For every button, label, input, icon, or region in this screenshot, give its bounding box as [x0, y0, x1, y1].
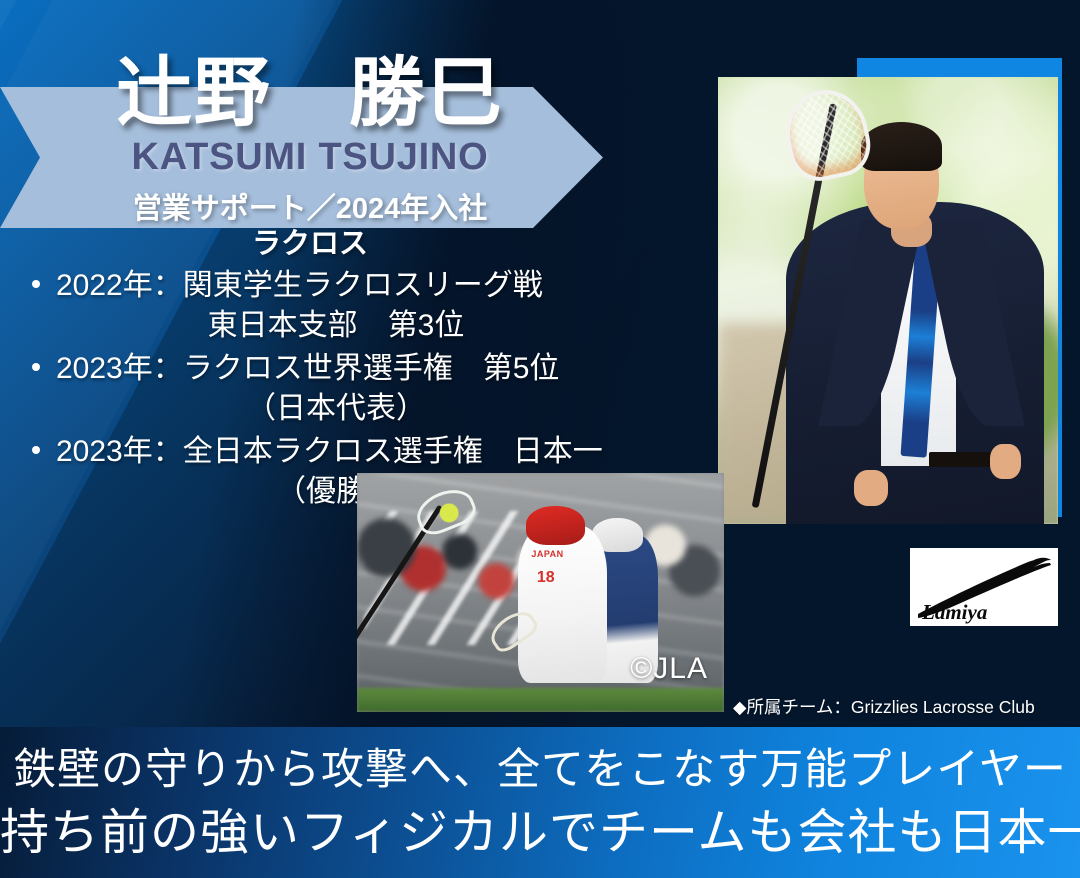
photo-credit-watermark: ©JLA — [630, 652, 708, 686]
list-item: 2023年：ラクロス世界選手権 第5位 （日本代表） — [10, 349, 660, 428]
bullet-icon — [32, 280, 40, 288]
achievement-line-primary: 2023年：ラクロス世界選手権 第5位 — [56, 349, 660, 389]
bullet-icon — [32, 363, 40, 371]
list-item: 2022年：関東学生ラクロスリーグ戦 東日本支部 第3位 — [10, 266, 660, 345]
portrait-photo — [718, 77, 1058, 524]
name-romaji: KATSUMI TSUJINO — [0, 138, 620, 176]
team-name-row: ◆所属チーム：Grizzlies Lacrosse Club — [733, 695, 1035, 720]
sport-label: ラクロス — [0, 228, 620, 261]
achievement-line-secondary: （日本代表） — [56, 389, 660, 429]
portrait-hand-right — [990, 444, 1021, 480]
portrait-belt — [929, 452, 997, 467]
achievement-line-secondary: 東日本支部 第3位 — [56, 306, 660, 346]
role-and-join-year: 営業サポート／2024年入社 — [0, 193, 620, 226]
company-logo: Lamiya — [910, 548, 1058, 626]
action-jersey-number: 18 — [537, 569, 555, 587]
achievement-line-primary: 2022年：関東学生ラクロスリーグ戦 — [56, 266, 660, 306]
tagline-banner: 鉄壁の守りから攻撃へ、全てをこなす万能プレイヤー 持ち前の強いフィジカルでチーム… — [0, 727, 1080, 878]
portrait-hair — [861, 122, 943, 171]
page-title: 辻野 勝巳 — [0, 56, 620, 132]
action-turf — [357, 688, 724, 712]
tagline-line-2: 持ち前の強いフィジカルでチームも会社も日本一に — [0, 793, 1080, 864]
action-japan-helmet-icon — [526, 506, 585, 544]
lamiya-signature-icon: Lamiya — [910, 548, 1058, 626]
profile-poster: 辻野 勝巳 KATSUMI TSUJINO 営業サポート／2024年入社 ラクロ… — [0, 0, 1080, 878]
achievement-line-primary: 2023年：全日本ラクロス選手権 日本一 — [56, 432, 660, 472]
action-jersey-country-text: JAPAN — [531, 549, 563, 559]
svg-text:Lamiya: Lamiya — [921, 600, 987, 624]
bullet-icon — [32, 446, 40, 454]
tagline-line-1: 鉄壁の守りから攻撃へ、全てをこなす万能プレイヤー — [0, 735, 1080, 797]
portrait-hand-left — [854, 470, 888, 506]
action-photo: JAPAN 18 ©JLA — [357, 473, 724, 712]
